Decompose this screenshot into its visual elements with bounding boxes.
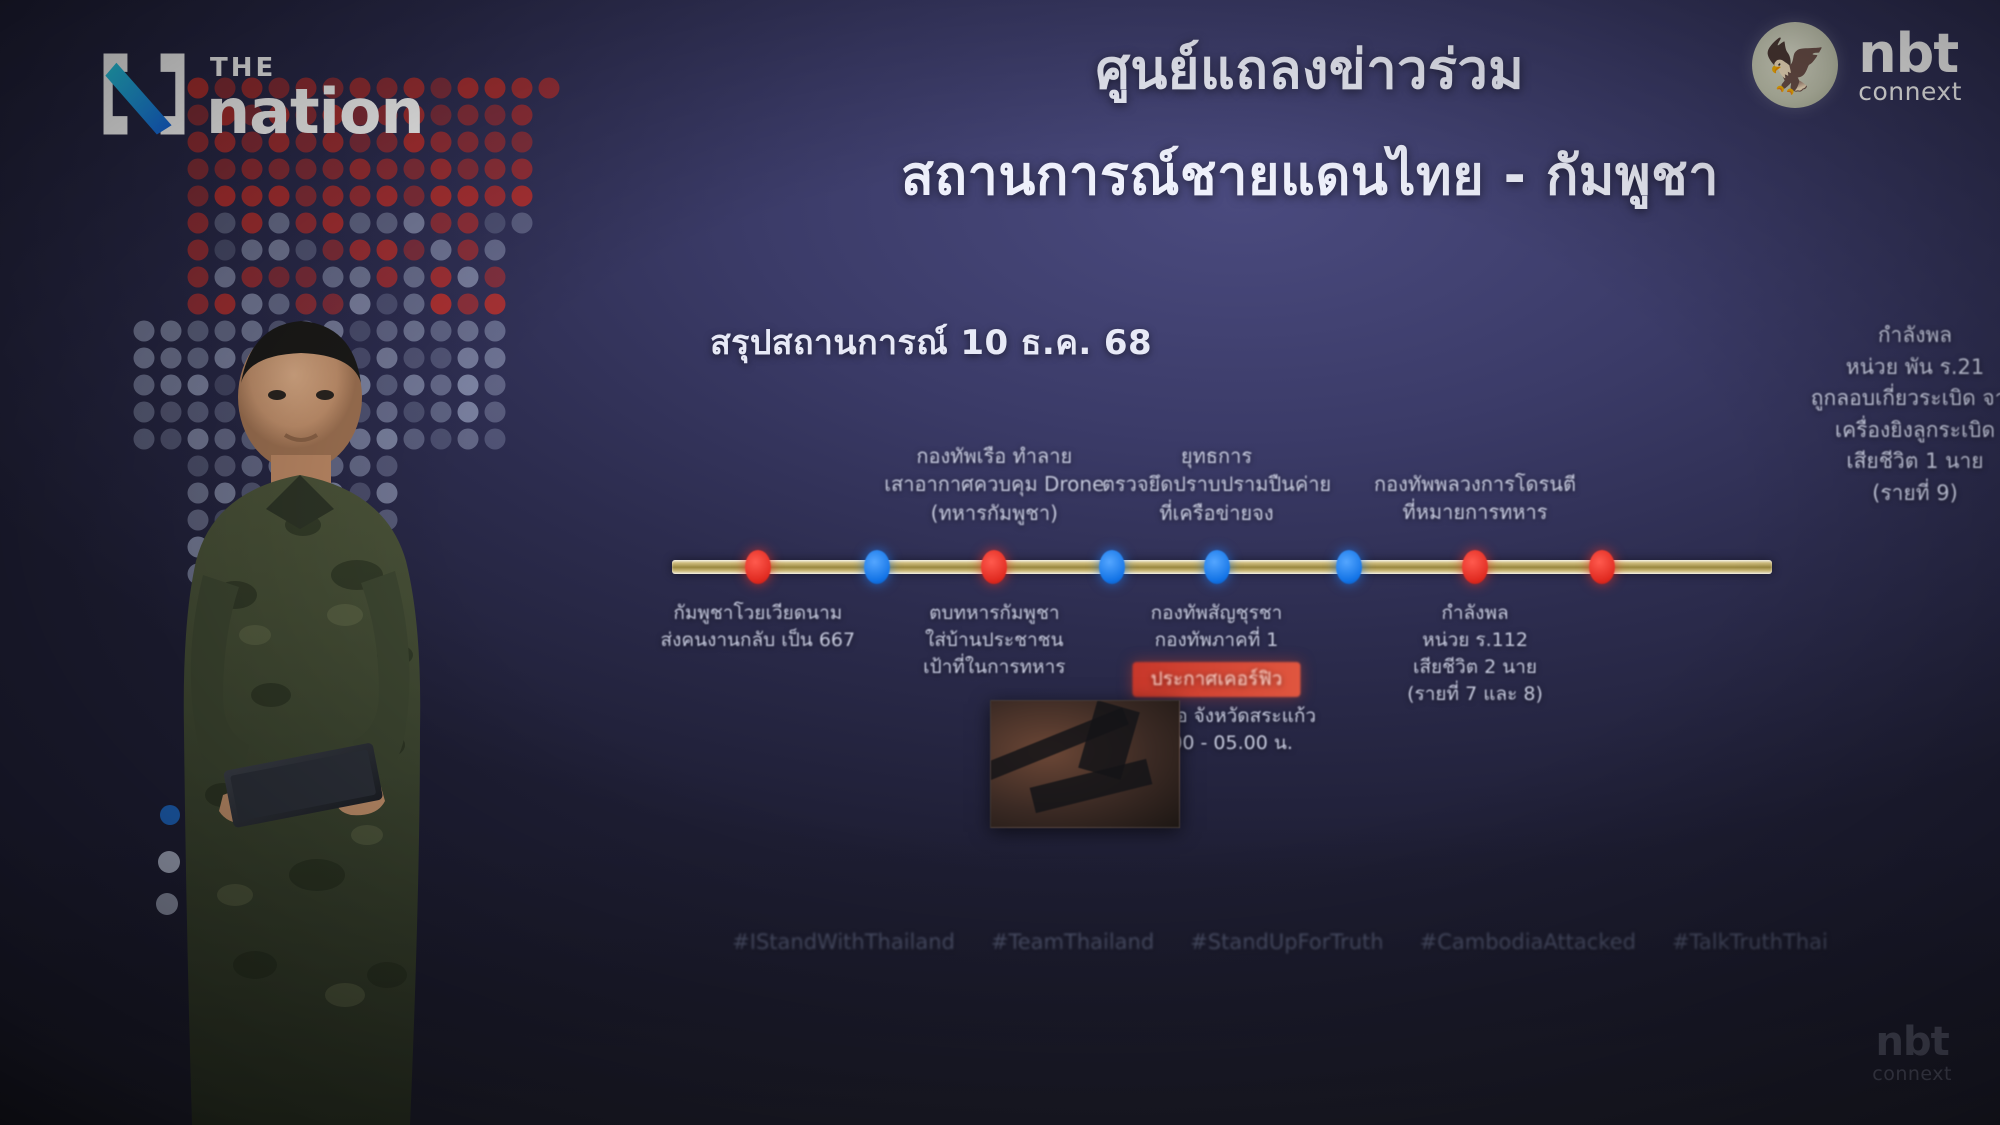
label-line: เสาอากาศควบคุม Drone bbox=[884, 470, 1104, 498]
stat-line: หน่วย พัน ร.21 bbox=[1790, 352, 2000, 384]
timeline-label-casualties-r112: กำลังพลหน่วย ร.112เสียชีวิต 2 นาย(รายที่… bbox=[1407, 600, 1543, 708]
nbt-watermark-sub: connext bbox=[1872, 1063, 1952, 1085]
label-line: ที่หมายการทหาร bbox=[1374, 498, 1576, 526]
timeline-dot-3[interactable] bbox=[981, 550, 1007, 584]
timeline-dot-4[interactable] bbox=[1099, 550, 1125, 584]
label-line: หน่วย ร.112 bbox=[1407, 627, 1543, 654]
nation-n-mark-icon bbox=[98, 48, 190, 140]
nbt-logo-main: nbt bbox=[1858, 27, 1958, 81]
label-line: เสียชีวิต 2 นาย bbox=[1407, 654, 1543, 681]
timeline-dot-6[interactable] bbox=[1336, 550, 1362, 584]
stat-line: (รายที่ 9) bbox=[1790, 478, 2000, 510]
stat-line: กำลังพล bbox=[1790, 320, 2000, 352]
label-line: ใส่บ้านประชาชน bbox=[923, 627, 1065, 654]
label-line: กัมพูชาโวยเวียดนาม bbox=[660, 600, 855, 627]
label-line: ยุทธการ bbox=[1102, 442, 1331, 470]
stat-line: เสียชีวิต 1 นาย bbox=[1790, 446, 2000, 478]
stat-line: ถูกลอบเกี่ยวระเบิด จาก bbox=[1790, 383, 2000, 415]
presenter-figure bbox=[95, 275, 525, 1125]
timeline-dot-7[interactable] bbox=[1462, 550, 1488, 584]
label-line: ตรวจยึดปราบปรามปืนค่าย bbox=[1102, 470, 1331, 498]
label-line: กำลังพล bbox=[1407, 600, 1543, 627]
nbt-watermark-main: nbt bbox=[1872, 1019, 1952, 1065]
incident-timeline: กองทัพเรือ ทำลายเสาอากาศควบคุม Drone(ทหา… bbox=[620, 0, 2000, 1060]
nbt-watermark: nbt connext bbox=[1872, 1019, 1952, 1085]
timeline-dot-1[interactable] bbox=[745, 550, 771, 584]
timeline-dot-8[interactable] bbox=[1589, 550, 1615, 584]
casualty-stat-casualties-r21: กำลังพลหน่วย พัน ร.21ถูกลอบเกี่ยวระเบิด … bbox=[1790, 320, 2000, 509]
label-line: กองทัพภาคที่ 1 bbox=[1117, 627, 1316, 654]
broadcast-frame: THE nation bbox=[0, 0, 2000, 1125]
the-nation-logo: THE nation bbox=[98, 48, 424, 140]
timeline-label-operation-seize: ยุทธการตรวจยึดปราบปรามปืนค่ายที่เครือข่า… bbox=[1102, 442, 1331, 527]
nation-logo-name: nation bbox=[206, 83, 424, 140]
nbt-connext-logo: 🦅 nbt connext bbox=[1752, 22, 1962, 108]
nbt-logo-sub: connext bbox=[1858, 79, 1962, 104]
incident-photo-thumbnail bbox=[990, 700, 1180, 828]
label-line: (ทหารกัมพูชา) bbox=[884, 499, 1104, 527]
label-line: ที่เครือข่ายจง bbox=[1102, 499, 1331, 527]
timeline-label-army-drone-strike: กองทัพพลวงการโดรนตีที่หมายการทหาร bbox=[1374, 470, 1576, 527]
label-line: กองทัพสัญชุรชา bbox=[1117, 600, 1316, 627]
label-line: ตบทหารกัมพูชา bbox=[923, 600, 1065, 627]
timeline-dot-2[interactable] bbox=[864, 550, 890, 584]
timeline-label-navy-drone-antenna: กองทัพเรือ ทำลายเสาอากาศควบคุม Drone(ทหา… bbox=[884, 442, 1104, 527]
label-line: กองทัพเรือ ทำลาย bbox=[884, 442, 1104, 470]
timeline-label-cambodia-troops-village: ตบทหารกัมพูชาใส่บ้านประชาชนเป้าที่ในการท… bbox=[923, 600, 1065, 681]
curfew-highlight: ประกาศเคอร์ฟิว bbox=[1117, 654, 1316, 703]
timeline-dot-5[interactable] bbox=[1204, 550, 1230, 584]
timeline-label-cambodia-vietnam-workers: กัมพูชาโวยเวียดนามส่งคนงานกลับ เป็น 667 bbox=[660, 600, 855, 654]
thai-government-emblem-icon: 🦅 bbox=[1752, 22, 1838, 108]
stat-line: เครื่องยิงลูกระเบิด bbox=[1790, 415, 2000, 447]
label-line: ส่งคนงานกลับ เป็น 667 bbox=[660, 627, 855, 654]
label-line: (รายที่ 7 และ 8) bbox=[1407, 681, 1543, 708]
label-line: เป้าที่ในการทหาร bbox=[923, 654, 1065, 681]
label-line: กองทัพพลวงการโดรนตี bbox=[1374, 470, 1576, 498]
presentation-slide: ศูนย์แถลงข่าวร่วม สถานการณ์ชายแดนไทย - ก… bbox=[620, 0, 2000, 1060]
garuda-glyph-icon: 🦅 bbox=[1763, 41, 1828, 93]
